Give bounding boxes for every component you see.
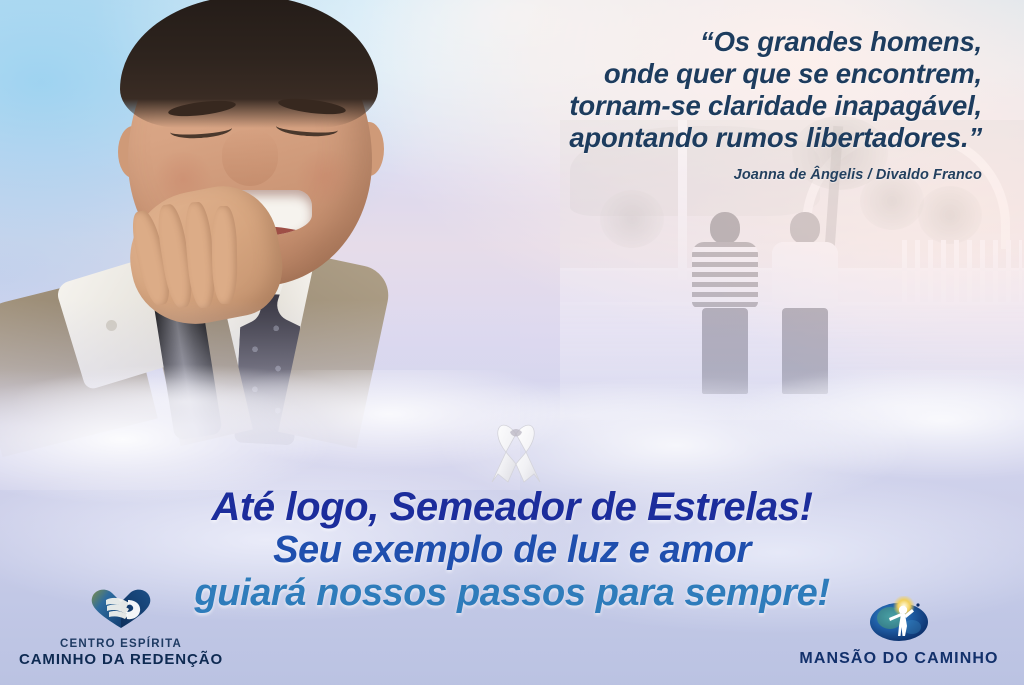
portrait-nose — [222, 130, 278, 186]
photo-person-head — [790, 212, 820, 244]
portrait-finger — [211, 206, 238, 304]
photo-person-torso — [692, 242, 758, 308]
globe-figure-icon — [788, 596, 1010, 647]
headline-line-1: Até logo, Semeador de Estrelas! — [0, 486, 1024, 528]
quote-block: “Os grandes homens, onde quer que se enc… — [322, 26, 982, 183]
quote-line-4: apontando rumos libertadores.” — [322, 122, 982, 154]
tribute-poster: “Os grandes homens, onde quer que se enc… — [0, 0, 1024, 685]
logo-mansao-do-caminho: MANSÃO DO CAMINHO — [788, 596, 1010, 669]
photo-person-torso — [772, 242, 838, 308]
photo-palm-3 — [600, 190, 664, 248]
logo-right-line-1: MANSÃO DO CAMINHO — [788, 650, 1010, 669]
quote-author: Joanna de Ângelis / Divaldo Franco — [322, 167, 982, 183]
logo-centro-espirita: CENTRO ESPÍRITA CAMINHO DA REDENÇÃO — [16, 586, 226, 669]
white-ribbon-icon — [484, 412, 548, 486]
headline-line-2: Seu exemplo de luz e amor — [0, 530, 1024, 570]
photo-palm-2 — [918, 186, 982, 244]
quote-line-1: “Os grandes homens, — [322, 26, 982, 58]
quote-line-2: onde quer que se encontrem, — [322, 58, 982, 90]
photo-person-head — [710, 212, 740, 244]
logo-left-line-1: CENTRO ESPÍRITA — [16, 638, 226, 652]
logo-left-line-2: CAMINHO DA REDENÇÃO — [16, 651, 226, 669]
hands-heart-icon — [16, 586, 226, 635]
photo-fence — [902, 240, 1022, 302]
quote-line-3: tornam-se claridade inapagável, — [322, 90, 982, 122]
